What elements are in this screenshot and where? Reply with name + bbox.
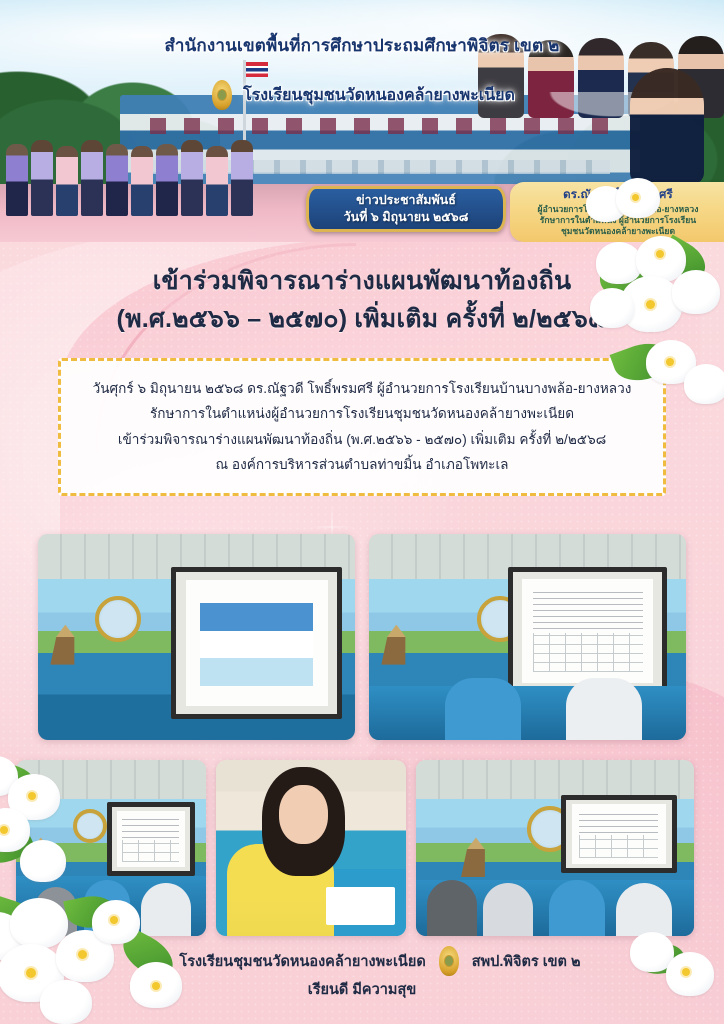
director-role-line1: ผู้อำนวยการโรงเรียนบ้านบางพล้อ-ยางหลวง	[520, 204, 716, 215]
page-title-line2: (พ.ศ.๒๕๖๖ – ๒๕๗๐) เพิ่มเติม ครั้งที่ ๒/๒…	[40, 300, 684, 338]
student-figure	[156, 144, 178, 216]
thai-flag-icon	[246, 62, 268, 77]
royal-garuda-emblem-icon	[209, 80, 235, 110]
student-figure	[206, 146, 228, 216]
footer: f โรงเรียนชุมชนวัดหนองคล้ายางพะเนียด สพป…	[0, 936, 724, 1024]
page-title: เข้าร่วมพิจารณาร่างแผนพัฒนาท้องถิ่น (พ.ศ…	[40, 262, 684, 338]
director-info-card: ดร.ณัฐวดี โพธิ์พรมศรี ผู้อำนวยการโรงเรีย…	[510, 182, 724, 242]
news-badge: ข่าวประชาสัมพันธ์ วันที่ ๖ มิถุนายน ๒๕๖๘	[306, 186, 506, 232]
student-figure	[131, 146, 153, 216]
royal-garuda-emblem-icon	[436, 946, 462, 976]
footer-social-row: f โรงเรียนชุมชนวัดหนองคล้ายางพะเนียด สพป…	[0, 946, 724, 976]
school-name-row: โรงเรียนชุมชนวัดหนองคล้ายางพะเนียด	[0, 80, 724, 110]
student-figure	[231, 140, 253, 216]
description-line-1: วันศุกร์ ๖ มิถุนายน ๒๕๖๘ ดร.ณัฐวดี โพธิ์…	[93, 379, 632, 399]
office-title: สำนักงานเขตพื้นที่การศึกษาประถมศึกษาพิจิ…	[0, 32, 724, 59]
page-title-line1: เข้าร่วมพิจารณาร่างแผนพัฒนาท้องถิ่น	[153, 267, 572, 295]
director-role-line2: รักษาการในตำแหน่ง ผู้อำนวยการโรงเรียน	[520, 215, 716, 226]
school-name: โรงเรียนชุมชนวัดหนองคล้ายางพะเนียด	[243, 83, 515, 108]
student-figure	[6, 144, 28, 216]
photo-director-portrait[interactable]	[216, 760, 406, 936]
description-line-4: ณ องค์การบริหารส่วนตำบลท่าขมิ้น อำเภอโพท…	[216, 455, 509, 475]
footer-slogan: เรียนดี มีความสุข	[0, 978, 724, 1001]
photo-meeting-wide[interactable]	[16, 760, 206, 936]
news-badge-line2: วันที่ ๖ มิถุนายน ๒๕๖๘	[344, 209, 469, 226]
student-figure	[81, 140, 103, 216]
description-card: วันศุกร์ ๖ มิถุนายน ๒๕๖๘ ดร.ณัฐวดี โพธิ์…	[58, 358, 666, 496]
director-role-line3: ชุมชนวัดหนองคล้ายางพะเนียด	[520, 226, 716, 237]
header-banner: สำนักงานเขตพื้นที่การศึกษาประถมศึกษาพิจิ…	[0, 0, 724, 242]
photo-meeting-document[interactable]	[369, 534, 686, 740]
student-figure	[106, 144, 128, 216]
photo-participants-table[interactable]	[416, 760, 694, 936]
photo-projector-slide[interactable]	[38, 534, 355, 740]
students-group-photo	[6, 138, 276, 216]
news-badge-line1: ข่าวประชาสัมพันธ์	[356, 192, 456, 209]
area-office-name: สพป.พิจิตร เขต ๒	[472, 950, 581, 973]
student-figure	[31, 140, 53, 216]
facebook-page-name: โรงเรียนชุมชนวัดหนองคล้ายางพะเนียด	[179, 950, 425, 973]
student-figure	[181, 140, 203, 216]
description-line-3: เข้าร่วมพิจารณาร่างแผนพัฒนาท้องถิ่น (พ.ศ…	[118, 430, 606, 450]
director-name: ดร.ณัฐวดี โพธิ์พรมศรี	[520, 186, 716, 204]
description-line-2: รักษาการในตำแหน่งผู้อำนวยการโรงเรียนชุมช…	[150, 404, 574, 424]
photo-grid-top	[38, 534, 686, 740]
student-figure	[56, 146, 78, 216]
facebook-icon[interactable]: f	[143, 948, 169, 974]
photo-grid-bottom	[16, 760, 706, 936]
poster-root: สำนักงานเขตพื้นที่การศึกษาประถมศึกษาพิจิ…	[0, 0, 724, 1024]
